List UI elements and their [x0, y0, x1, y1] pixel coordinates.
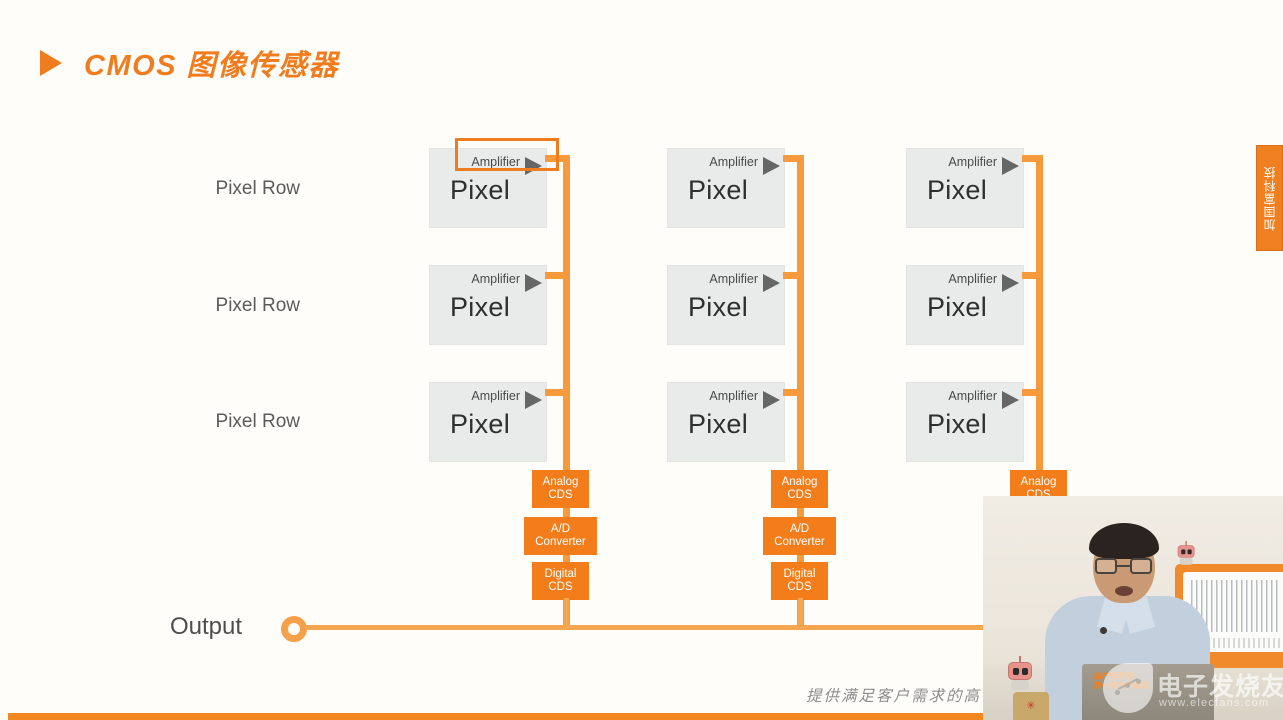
robot-eye-right-icon [1022, 668, 1028, 675]
row-label-2: Pixel Row [140, 295, 300, 317]
amp-stub-r3c2 [783, 389, 803, 396]
lapel-mic-icon [1100, 627, 1107, 634]
robot-mascot-icon [1177, 541, 1195, 565]
stage-line1: Analog [543, 476, 579, 489]
stage-line2: CDS [782, 489, 818, 502]
stage-line1: Digital [545, 568, 577, 581]
amplifier-label: Amplifier [709, 389, 758, 403]
pixel-cell-r1c3[interactable]: Amplifier Pixel [906, 148, 1024, 228]
robot-body-icon [1011, 680, 1029, 690]
output-drop-c2 [798, 598, 803, 628]
amplifier-label: Amplifier [948, 272, 997, 286]
side-tab-label: 加国富科技 [1261, 166, 1278, 231]
stage-line1: A/D [774, 523, 825, 536]
triangle-right-icon [525, 157, 542, 175]
glasses-lens-left-icon [1095, 558, 1117, 574]
pixel-label: Pixel [688, 409, 748, 440]
robot-body-icon [1180, 558, 1193, 565]
stage-line2: Converter [535, 536, 586, 549]
triangle-right-icon [763, 391, 780, 409]
stage-line1: Digital [784, 568, 816, 581]
robot-head-icon [1008, 662, 1032, 680]
stage-ad-converter-c2[interactable]: A/D Converter [763, 517, 836, 555]
pixel-cell-r1c1[interactable]: Amplifier Pixel [429, 148, 547, 228]
amplifier-label: Amplifier [948, 155, 997, 169]
amp-stub-r1c3 [1022, 155, 1042, 162]
amp-stub-r2c2 [783, 272, 803, 279]
row-label-1: Pixel Row [140, 178, 300, 200]
pixel-cell-r3c1[interactable]: Amplifier Pixel [429, 382, 547, 462]
glasses-lens-right-icon [1130, 558, 1152, 574]
amplifier-label: Amplifier [471, 155, 520, 169]
triangle-right-icon [1002, 391, 1019, 409]
pixel-label: Pixel [927, 409, 987, 440]
stage-line1: Analog [782, 476, 818, 489]
amplifier-label: Amplifier [948, 389, 997, 403]
stage-line2: CDS [543, 489, 579, 502]
watermark-url: www.elecfans.com [1159, 697, 1269, 709]
triangle-right-icon [763, 274, 780, 292]
stage-ad-converter-c1[interactable]: A/D Converter [524, 517, 597, 555]
side-tab-brand[interactable]: 加国富科技 [1256, 145, 1283, 251]
stage-analog-cds-c1[interactable]: Analog CDS [532, 470, 589, 508]
video-overlay[interactable]: 国产教学机+ 第一教材中国造 ✳ 电子发烧 [983, 496, 1283, 720]
glasses-bridge-icon [1117, 565, 1130, 567]
stage-line2: CDS [545, 581, 577, 594]
triangle-right-icon [525, 391, 542, 409]
robot-eye-left-icon [1181, 549, 1185, 554]
triangle-right-icon [525, 274, 542, 292]
pixel-cell-r1c2[interactable]: Amplifier Pixel [667, 148, 785, 228]
robot-eye-left-icon [1013, 668, 1019, 675]
pixel-label: Pixel [927, 292, 987, 323]
amp-stub-r3c3 [1022, 389, 1042, 396]
pixel-cell-r2c3[interactable]: Amplifier Pixel [906, 265, 1024, 345]
slide-canvas: CMOS 图像传感器 Pixel Row Pixel Row Pixel Row… [0, 0, 1283, 720]
pixel-label: Pixel [450, 292, 510, 323]
triangle-right-icon [763, 157, 780, 175]
desk-object-mark: ✳ [1025, 699, 1037, 711]
triangle-right-icon [1002, 274, 1019, 292]
amp-stub-r3c1 [545, 389, 567, 396]
amplifier-label: Amplifier [471, 272, 520, 286]
pixel-label: Pixel [688, 175, 748, 206]
ring-node-icon [281, 616, 307, 642]
desk-object: ✳ [1013, 692, 1049, 720]
stage-line2: Converter [774, 536, 825, 549]
pixel-cell-r2c1[interactable]: Amplifier Pixel [429, 265, 547, 345]
pixel-label: Pixel [927, 175, 987, 206]
robot-eye-right-icon [1188, 549, 1192, 554]
amp-stub-r1c2 [783, 155, 803, 162]
stage-analog-cds-c2[interactable]: Analog CDS [771, 470, 828, 508]
pixel-cell-r3c2[interactable]: Amplifier Pixel [667, 382, 785, 462]
amplifier-label: Amplifier [471, 389, 520, 403]
stage-line1: A/D [535, 523, 586, 536]
amplifier-label: Amplifier [709, 155, 758, 169]
watermark: 电子发烧友 www.elecfans.com [1103, 661, 1283, 719]
output-label: Output [170, 613, 242, 641]
robot-mascot-icon [1007, 656, 1033, 690]
stage-line2: CDS [784, 581, 816, 594]
output-drop-c1 [564, 598, 569, 628]
pixel-label: Pixel [450, 409, 510, 440]
amp-stub-r2c1 [545, 272, 567, 279]
stage-digital-cds-c1[interactable]: Digital CDS [532, 562, 589, 600]
pixel-label: Pixel [450, 175, 510, 206]
row-label-3: Pixel Row [140, 411, 300, 433]
amp-stub-r2c3 [1022, 272, 1042, 279]
pixel-cell-r2c2[interactable]: Amplifier Pixel [667, 265, 785, 345]
pixel-label: Pixel [688, 292, 748, 323]
pixel-cell-r3c3[interactable]: Amplifier Pixel [906, 382, 1024, 462]
triangle-right-icon [1002, 157, 1019, 175]
stage-line1: Analog [1021, 476, 1057, 489]
stage-digital-cds-c2[interactable]: Digital CDS [771, 562, 828, 600]
presenter-mouth [1115, 586, 1133, 596]
amplifier-label: Amplifier [709, 272, 758, 286]
amp-stub-r1c1 [545, 155, 567, 162]
